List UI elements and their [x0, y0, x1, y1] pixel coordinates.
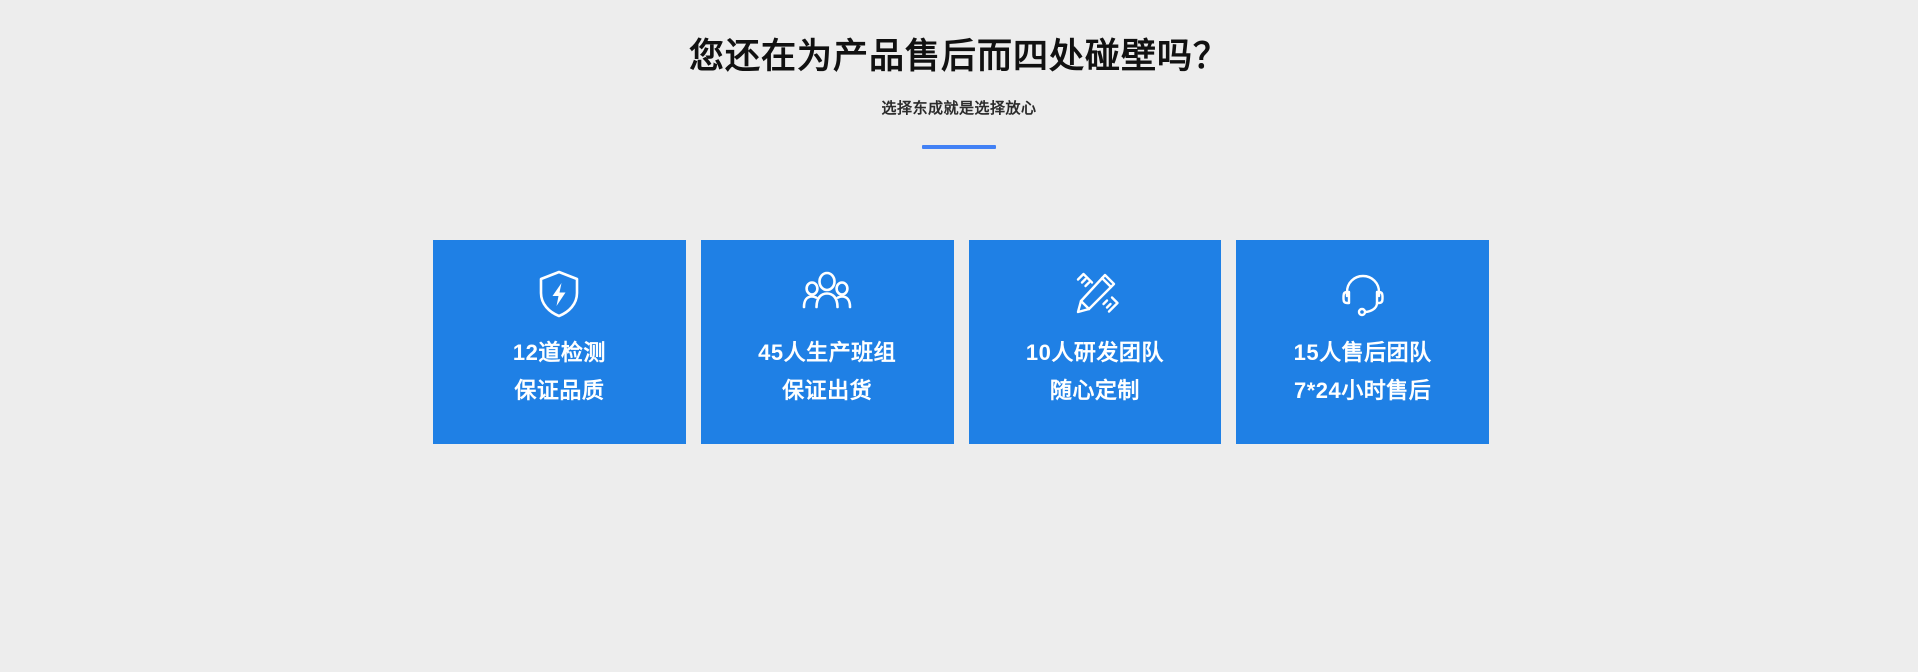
headset-icon: [1335, 266, 1391, 322]
divider-wrapper: [0, 145, 1918, 149]
feature-card-line2: 7*24小时售后: [1294, 374, 1432, 408]
feature-card-line2: 保证出货: [758, 374, 896, 408]
shield-lightning-icon: [531, 266, 587, 322]
feature-card-line1: 15人售后团队: [1294, 336, 1432, 370]
feature-card-list: 12道检测 保证品质 45人生产班组 保证出货: [433, 240, 1489, 444]
divider-accent-bar: [922, 145, 996, 149]
page-title: 您还在为产品售后而四处碰壁吗？: [0, 34, 1918, 80]
promo-banner: 您还在为产品售后而四处碰壁吗？ 选择东成就是选择放心 12道检测 保证品质: [0, 0, 1918, 672]
feature-card-rnd[interactable]: 10人研发团队 随心定制: [969, 240, 1222, 444]
feature-card-line2: 随心定制: [1026, 374, 1164, 408]
page-subtitle: 选择东成就是选择放心: [0, 98, 1918, 120]
feature-card-production[interactable]: 45人生产班组 保证出货: [701, 240, 954, 444]
feature-card-text: 12道检测 保证品质: [513, 336, 606, 408]
feature-card-text: 10人研发团队 随心定制: [1026, 336, 1164, 408]
feature-card-text: 45人生产班组 保证出货: [758, 336, 896, 408]
pencil-ruler-icon: [1067, 266, 1123, 322]
feature-card-line1: 10人研发团队: [1026, 336, 1164, 370]
feature-card-line1: 45人生产班组: [758, 336, 896, 370]
header-block: 您还在为产品售后而四处碰壁吗？ 选择东成就是选择放心: [0, 34, 1918, 149]
feature-card-line2: 保证品质: [513, 374, 606, 408]
feature-card-quality[interactable]: 12道检测 保证品质: [433, 240, 686, 444]
people-group-icon: [799, 266, 855, 322]
feature-card-support[interactable]: 15人售后团队 7*24小时售后: [1236, 240, 1489, 444]
feature-card-text: 15人售后团队 7*24小时售后: [1294, 336, 1432, 408]
feature-card-line1: 12道检测: [513, 336, 606, 370]
